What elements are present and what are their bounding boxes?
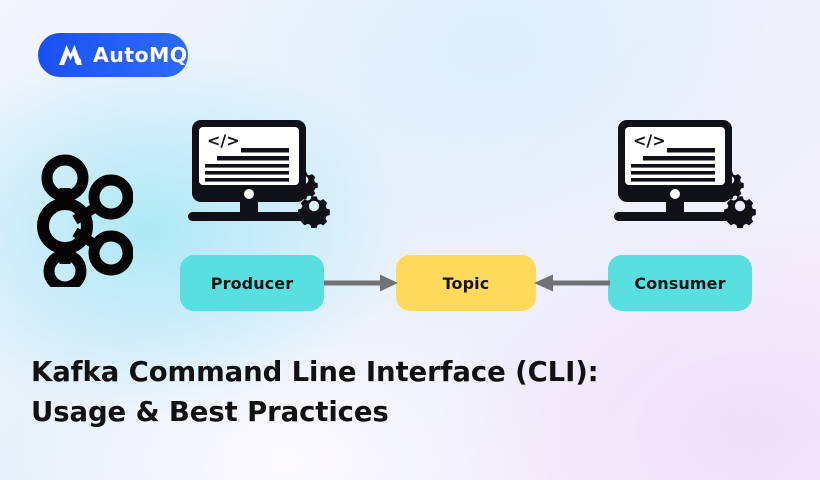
svg-text:</>: </> <box>207 131 240 150</box>
flow-node-topic[interactable]: Topic <box>396 255 536 311</box>
automq-logo-badge[interactable]: AutoMQ <box>38 33 188 77</box>
apache-kafka-logo-icon <box>33 152 133 287</box>
arrow-consumer-to-topic-icon <box>534 272 610 294</box>
flow-node-producer-label: Producer <box>211 274 293 293</box>
automq-logo-text: AutoMQ <box>93 43 188 67</box>
automq-m-mark-icon <box>57 43 84 67</box>
arrow-producer-to-topic-icon <box>324 272 398 294</box>
page-title: Kafka Command Line Interface (CLI): Usag… <box>31 352 651 432</box>
flow-node-consumer-label: Consumer <box>634 274 725 293</box>
page-title-line-1: Kafka Command Line Interface (CLI): <box>31 352 651 392</box>
page-title-line-2: Usage & Best Practices <box>31 392 651 432</box>
monitor-code-gears-icon-right: </> <box>612 118 756 228</box>
flow-node-producer[interactable]: Producer <box>180 255 324 311</box>
svg-text:</>: </> <box>633 131 666 150</box>
flow-node-topic-label: Topic <box>443 274 490 293</box>
slide-canvas: AutoMQ <box>0 0 820 480</box>
monitor-code-gears-icon-left: </> <box>186 118 330 228</box>
flow-node-consumer[interactable]: Consumer <box>608 255 752 311</box>
